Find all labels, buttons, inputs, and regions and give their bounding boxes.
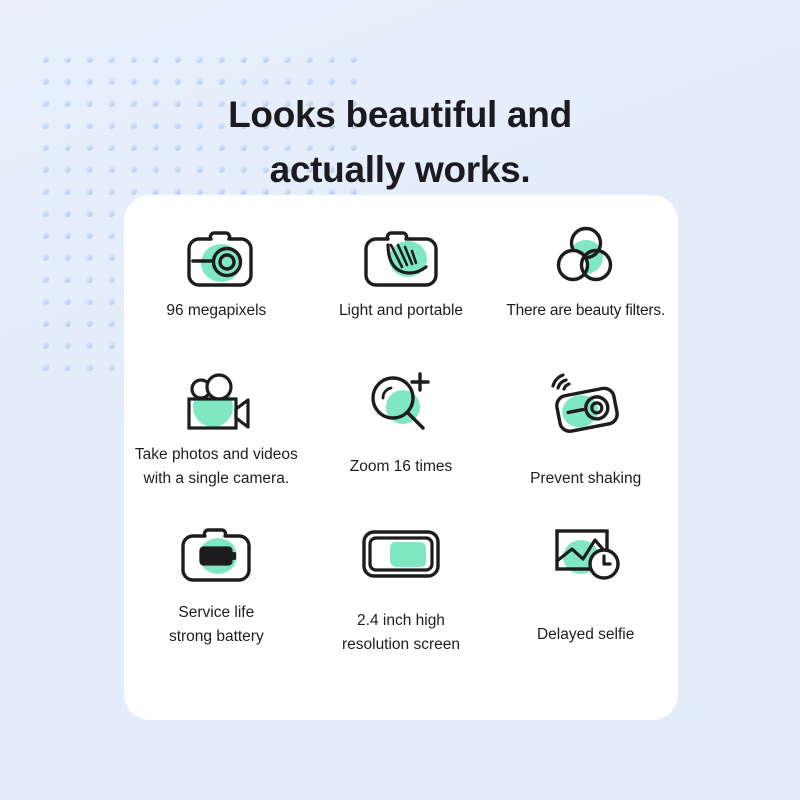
feature-label: There are beauty filters. xyxy=(504,299,667,323)
feature-item-zoom-16-times: Zoom 16 times xyxy=(309,367,494,517)
feature-item-beauty-filters: There are beauty filters. xyxy=(493,219,678,367)
camera-feather-icon xyxy=(358,219,444,293)
features-grid: 96 megapixels Light and portable xyxy=(124,195,678,720)
feature-item-light-and-portable: Light and portable xyxy=(309,219,494,367)
page-title-line-1: Looks beautiful and xyxy=(0,87,800,142)
feature-label: Zoom 16 times xyxy=(348,455,455,479)
promo-page: Looks beautiful and actually works. 96 m… xyxy=(0,0,800,800)
feature-label: 2.4 inch high resolution screen xyxy=(340,609,462,657)
feature-item-photos-and-videos: Take photos and videos with a single cam… xyxy=(124,367,309,517)
feature-item-service-life-battery: Service life strong battery xyxy=(124,517,309,669)
page-title-line-2: actually works. xyxy=(0,142,800,197)
feature-item-delayed-selfie: Delayed selfie xyxy=(493,517,678,669)
magnifier-plus-icon xyxy=(361,367,441,441)
feature-label: 96 megapixels xyxy=(164,299,268,323)
screen-icon xyxy=(356,517,446,591)
page-title: Looks beautiful and actually works. xyxy=(0,87,800,197)
shaking-camera-icon xyxy=(542,367,630,441)
feature-label: Take photos and videos with a single cam… xyxy=(133,443,300,491)
feature-label: Light and portable xyxy=(337,299,465,323)
feature-item-screen: 2.4 inch high resolution screen xyxy=(309,517,494,669)
photo-clock-icon xyxy=(543,517,629,591)
feature-item-prevent-shaking: Prevent shaking xyxy=(493,367,678,517)
feature-label: Service life strong battery xyxy=(167,601,266,649)
feature-item-96-megapixels: 96 megapixels xyxy=(124,219,309,367)
three-circles-filter-icon xyxy=(548,219,624,293)
feature-label: Delayed selfie xyxy=(535,623,636,647)
features-card: 96 megapixels Light and portable xyxy=(124,195,678,720)
feature-label: Prevent shaking xyxy=(528,467,643,491)
camera-lens-icon xyxy=(173,219,259,293)
camera-battery-icon xyxy=(173,517,259,591)
video-camera-icon xyxy=(173,367,259,441)
